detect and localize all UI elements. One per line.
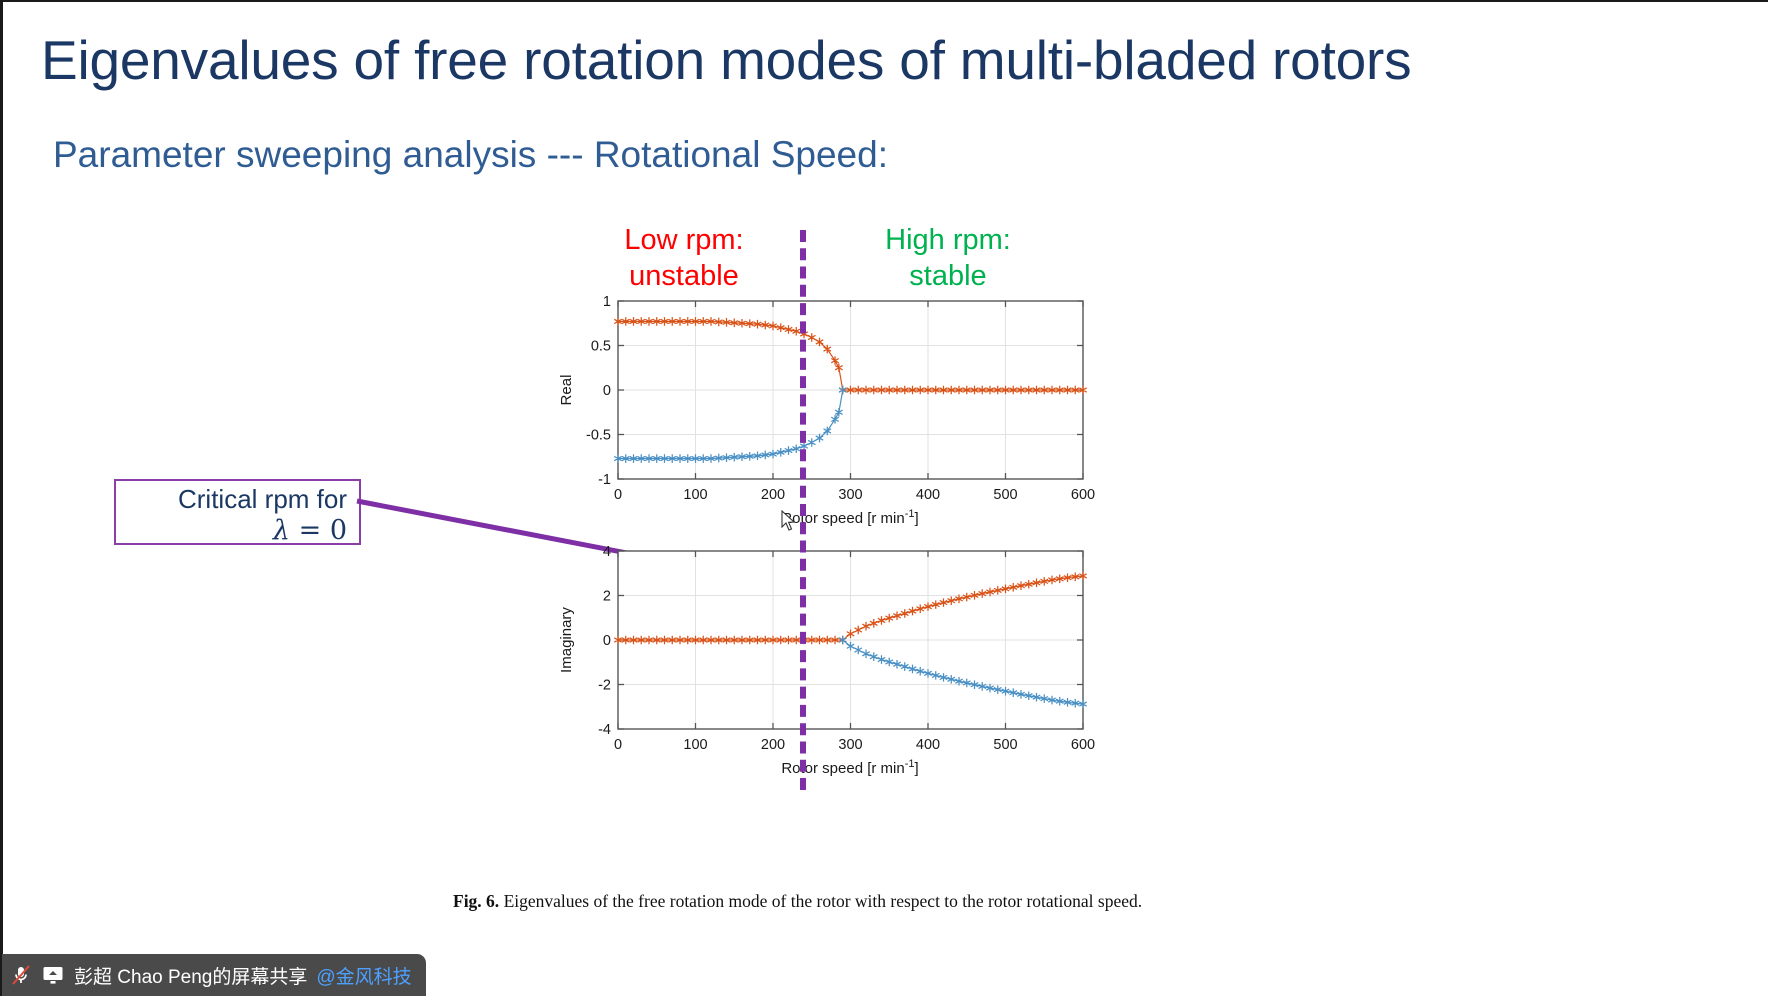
lambda-symbol: λ xyxy=(273,515,290,546)
critical-rpm-dashed-line xyxy=(800,230,806,790)
xtick-300: 300 xyxy=(838,737,862,753)
microphone-muted-icon[interactable] xyxy=(10,964,32,986)
lambda-equals-zero: = 0 xyxy=(290,515,347,546)
xtick-100: 100 xyxy=(683,487,707,503)
screen-share-icon[interactable] xyxy=(41,964,65,986)
slide-canvas: Eigenvalues of free rotation modes of mu… xyxy=(0,0,1768,996)
xtick-100: 100 xyxy=(683,737,707,753)
xtick-600: 600 xyxy=(1071,737,1095,753)
share-org-text: @金风科技 xyxy=(316,962,411,989)
xtick-600: 600 xyxy=(1071,487,1095,503)
ytick-imag--4: -4 xyxy=(598,722,611,738)
caption-text: Eigenvalues of the free rotation mode of… xyxy=(499,891,1142,911)
xtick-500: 500 xyxy=(993,487,1017,503)
critical-rpm-formula: λ = 0 xyxy=(116,515,347,546)
screen-share-taskbar[interactable]: 彭超 Chao Peng的屏幕共享 @金风科技 xyxy=(2,954,426,996)
xtick-400: 400 xyxy=(916,487,940,503)
xtick-200: 200 xyxy=(761,487,785,503)
ytick-imag--2: -2 xyxy=(598,678,611,694)
ylabel-imaginary: Imaginary xyxy=(558,607,575,673)
xtick-0: 0 xyxy=(614,487,622,503)
ylabel-real: Real xyxy=(558,375,575,406)
share-owner-text: 彭超 Chao Peng的屏幕共享 xyxy=(74,962,307,989)
xtick-0: 0 xyxy=(614,737,622,753)
xtick-200: 200 xyxy=(761,737,785,753)
xtick-500: 500 xyxy=(993,737,1017,753)
xtick-300: 300 xyxy=(838,487,862,503)
mouse-cursor xyxy=(781,510,797,532)
ytick-real-0.5: 0.5 xyxy=(591,339,611,355)
critical-rpm-callout: Critical rpm for λ = 0 xyxy=(114,479,361,545)
ytick-imag-2: 2 xyxy=(603,589,611,605)
low-rpm-label: Low rpm: unstable xyxy=(599,222,769,295)
ytick-imag-4: 4 xyxy=(603,544,611,560)
high-rpm-label: High rpm: stable xyxy=(858,222,1038,295)
xtick-400: 400 xyxy=(916,737,940,753)
ytick-real-0: 0 xyxy=(603,383,611,399)
ytick-real--0.5: -0.5 xyxy=(586,428,611,444)
ytick-real--1: -1 xyxy=(598,472,611,488)
ytick-imag-0: 0 xyxy=(603,633,611,649)
critical-rpm-line1: Critical rpm for xyxy=(116,485,347,515)
slide-subtitle: Parameter sweeping analysis --- Rotation… xyxy=(53,134,888,176)
figure-number: Fig. 6. xyxy=(453,891,499,911)
page-title: Eigenvalues of free rotation modes of mu… xyxy=(41,32,1411,90)
ytick-real-1: 1 xyxy=(603,294,611,310)
figure-caption: Fig. 6. Eigenvalues of the free rotation… xyxy=(453,890,1143,914)
